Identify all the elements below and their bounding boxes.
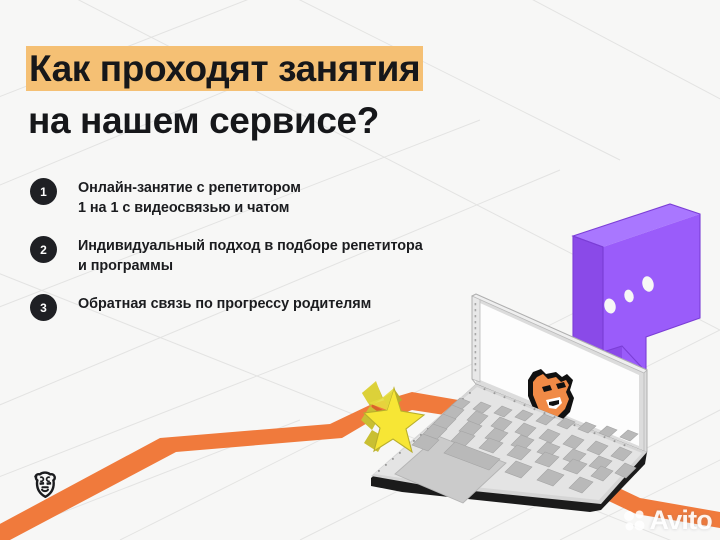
list-item: 3 Обратная связь по прогрессу родителям <box>30 292 510 336</box>
list-item: 1 Онлайн-занятие с репетитором 1 на 1 с … <box>30 176 510 220</box>
list-item-text: Обратная связь по прогрессу родителям <box>78 292 510 314</box>
list-item-text: Индивидуальный подход в подборе репетито… <box>78 234 510 276</box>
list-item-text: Онлайн-занятие с репетитором 1 на 1 с ви… <box>78 176 510 218</box>
avito-watermark: Avito <box>623 507 713 534</box>
benefits-list: 1 Онлайн-занятие с репетитором 1 на 1 с … <box>30 176 510 350</box>
list-item-number-badge: 3 <box>30 294 57 321</box>
list-item-line-2: и программы <box>78 256 510 276</box>
page-title-line-1: Как проходят занятия <box>28 48 421 89</box>
list-item-line-1: Онлайн-занятие с репетитором <box>78 180 301 196</box>
list-item: 2 Индивидуальный подход в подборе репети… <box>30 234 510 278</box>
avito-watermark-text: Avito <box>650 507 713 534</box>
poster-canvas: Как проходят занятия на нашем сервисе? 1… <box>0 0 720 540</box>
list-item-number-badge: 2 <box>30 236 57 263</box>
page-title-line-2: на нашем сервисе? <box>28 98 548 144</box>
page-title: Как проходят занятия на нашем сервисе? <box>28 46 548 144</box>
list-item-line-1: Обратная связь по прогрессу родителям <box>78 296 371 312</box>
avito-dots-icon <box>623 509 646 532</box>
list-item-line-1: Индивидуальный подход в подборе репетито… <box>78 238 423 254</box>
list-item-number-badge: 1 <box>30 178 57 205</box>
list-item-line-2: 1 на 1 с видеосвязью и чатом <box>78 198 510 218</box>
bear-head-icon <box>28 468 62 502</box>
content-layer: Как проходят занятия на нашем сервисе? 1… <box>0 0 720 540</box>
